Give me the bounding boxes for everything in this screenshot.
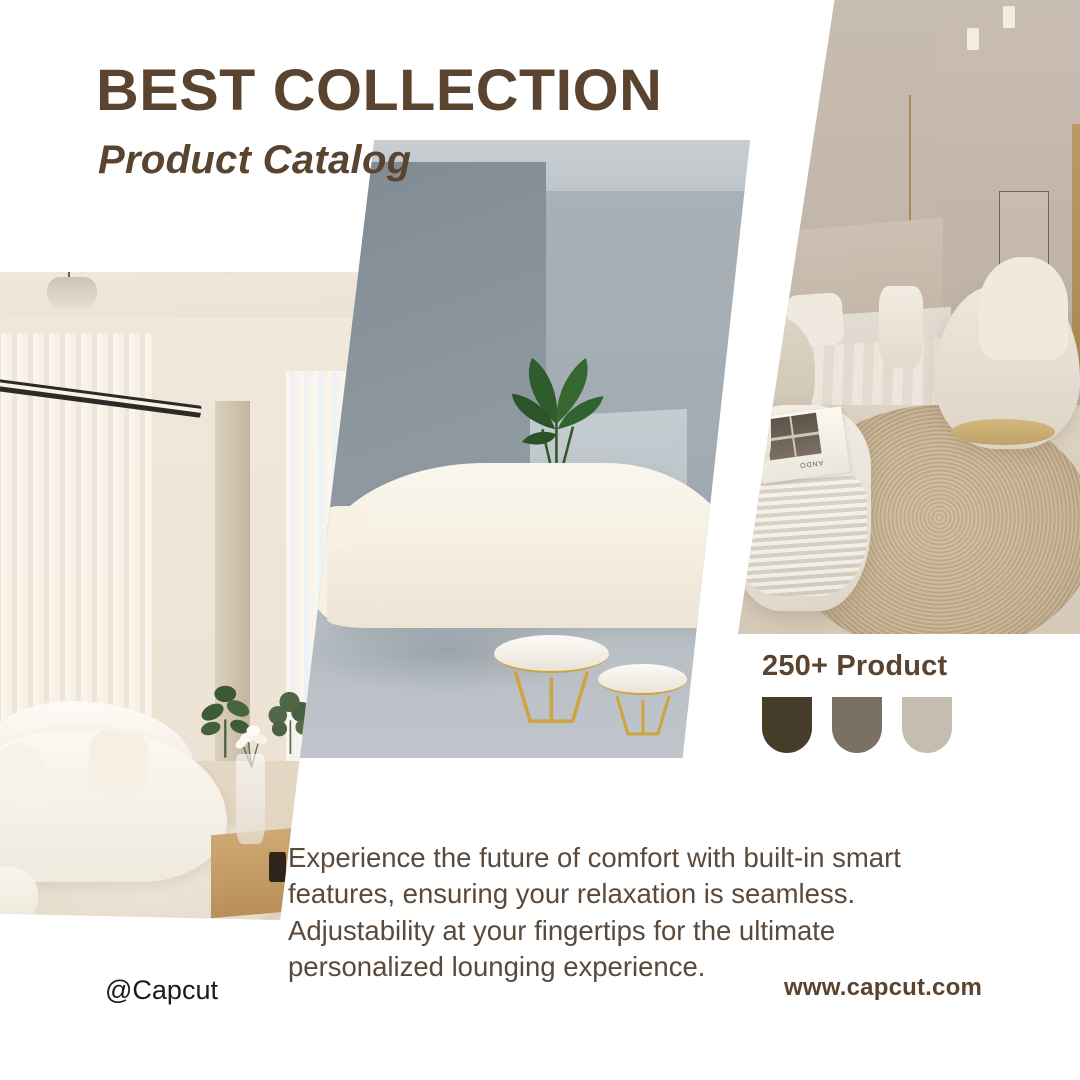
nesting-table-large-legs: [507, 664, 596, 736]
wooden-bowl: [295, 799, 333, 829]
stone-texture: [738, 464, 867, 597]
ceramic-stool: [879, 286, 923, 367]
gallery-image-living-room: [0, 272, 358, 920]
color-swatch-dark-olive-brown[interactable]: [762, 697, 812, 753]
social-handle[interactable]: @Capcut: [105, 975, 218, 1006]
page-subtitle: Product Catalog: [98, 140, 411, 180]
chair-gold-base: [951, 419, 1055, 445]
color-swatch-light-greige[interactable]: [902, 697, 952, 753]
spot-light: [1003, 6, 1015, 28]
book-cover-grid: [764, 412, 821, 459]
color-swatch-warm-taupe[interactable]: [832, 697, 882, 753]
gray-studio-scene: [300, 140, 750, 758]
nesting-table-small-legs: [609, 689, 677, 746]
product-stat-block: 250+ Product: [762, 650, 952, 753]
pillow: [738, 299, 785, 355]
gallery-image-bedroom: ANDO: [738, 0, 1080, 634]
nesting-table-small-top: [598, 664, 687, 695]
pendant-lamp-icon: [47, 277, 97, 309]
nesting-table-large-top: [494, 635, 609, 673]
page-title: BEST COLLECTION: [96, 62, 662, 120]
glass-vase: [236, 754, 265, 844]
spot-light: [967, 28, 979, 50]
ceramic-vase: [738, 382, 770, 463]
color-swatch-row: [762, 697, 952, 753]
dried-branches: [742, 301, 790, 397]
product-count-label: 250+ Product: [762, 650, 952, 683]
throw-cushion: [87, 730, 149, 797]
poster-canvas: BEST COLLECTION Product Catalog: [0, 0, 1080, 1080]
gallery-image-gray-studio: [300, 140, 750, 758]
website-url[interactable]: www.capcut.com: [784, 974, 982, 1002]
bedroom-scene: ANDO: [738, 0, 1080, 634]
living-room-scene: [0, 272, 358, 920]
sofa-seat: [327, 542, 734, 628]
black-pot: [269, 852, 286, 882]
spot-light: [219, 272, 232, 276]
chair-backrest: [979, 257, 1067, 360]
description-paragraph: Experience the future of comfort with bu…: [288, 840, 960, 986]
